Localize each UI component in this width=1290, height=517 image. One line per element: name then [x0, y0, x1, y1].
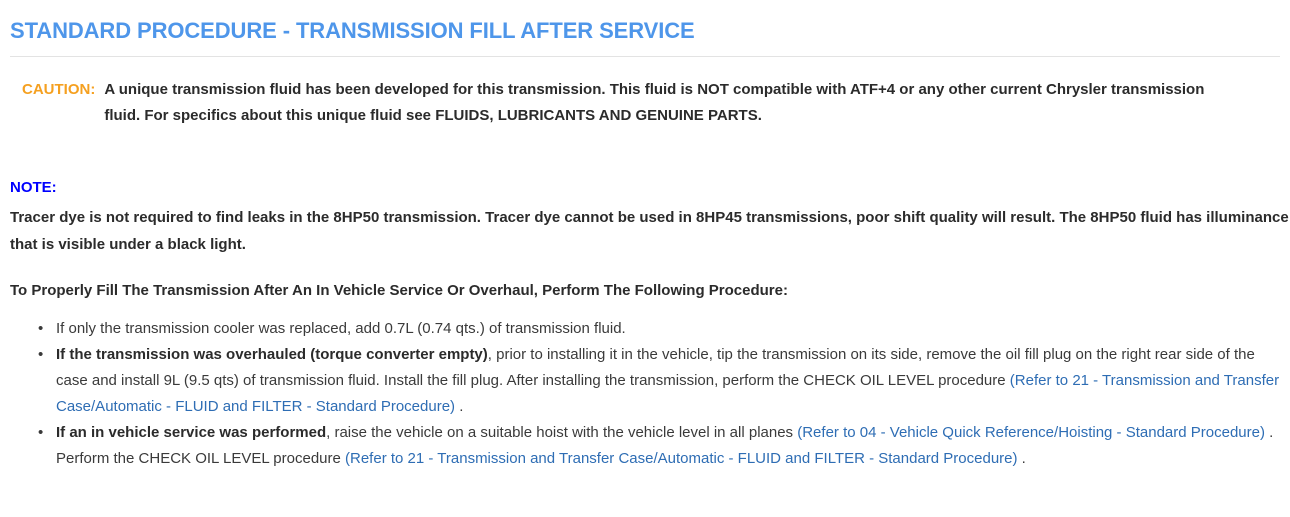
- procedure-list: If only the transmission cooler was repl…: [0, 316, 1290, 472]
- list-item: If an in vehicle service was performed, …: [38, 420, 1290, 472]
- reference-link[interactable]: (Refer to 04 - Vehicle Quick Reference/H…: [797, 424, 1265, 441]
- list-item-text: .: [455, 398, 463, 415]
- list-item-text: .: [1018, 450, 1026, 467]
- reference-link[interactable]: (Refer to 21 - Transmission and Transfer…: [345, 450, 1018, 467]
- note-label: NOTE:: [10, 177, 1290, 199]
- document-page: STANDARD PROCEDURE - TRANSMISSION FILL A…: [0, 0, 1290, 517]
- procedure-intro: To Properly Fill The Transmission After …: [0, 280, 1290, 302]
- note-text: Tracer dye is not required to find leaks…: [10, 204, 1290, 258]
- note-block: NOTE: Tracer dye is not required to find…: [0, 177, 1290, 258]
- list-item-bold-lead: If the transmission was overhauled (torq…: [56, 346, 488, 363]
- caution-block: CAUTION: A unique transmission fluid has…: [0, 77, 1290, 129]
- page-title: STANDARD PROCEDURE - TRANSMISSION FILL A…: [0, 0, 1290, 43]
- caution-label: CAUTION:: [22, 77, 95, 103]
- list-item-text: If only the transmission cooler was repl…: [56, 320, 626, 337]
- list-item: If the transmission was overhauled (torq…: [38, 342, 1290, 420]
- caution-text: A unique transmission fluid has been dev…: [104, 77, 1234, 129]
- list-item-bold-lead: If an in vehicle service was performed: [56, 424, 326, 441]
- list-item-text: , raise the vehicle on a suitable hoist …: [326, 424, 797, 441]
- title-divider: [10, 56, 1280, 57]
- list-item: If only the transmission cooler was repl…: [38, 316, 1290, 342]
